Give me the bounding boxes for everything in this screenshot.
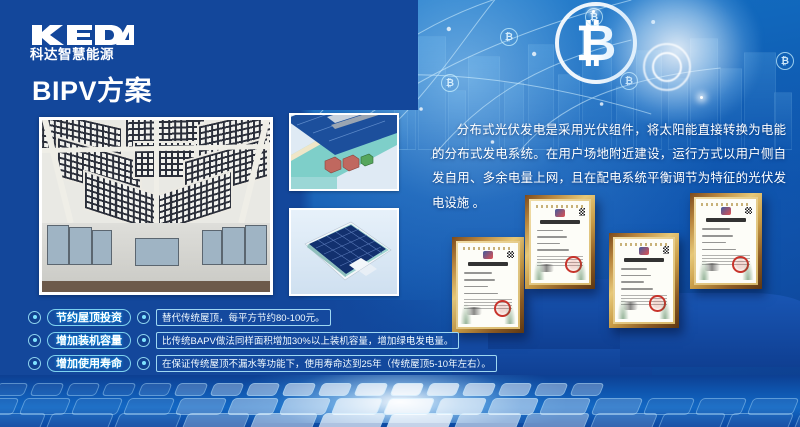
- perspective-tile: [452, 413, 522, 427]
- light-flare: [592, 10, 595, 13]
- feature-label: 增加装机容量: [47, 332, 131, 349]
- bottom-glow-strip: [0, 375, 800, 427]
- perspective-tile: [461, 383, 496, 396]
- feature-detail: 在保证传统屋顶不漏水等功能下，使用寿命达到25年（传统屋顶5-10年左右）。: [156, 355, 497, 372]
- bullet-icon: [28, 334, 41, 347]
- feature-label: 增加使用寿命: [47, 355, 131, 372]
- perspective-tile: [724, 413, 794, 427]
- bullet-icon: [137, 357, 150, 370]
- touch-ring-inner-icon: [652, 52, 682, 82]
- banner-poster: ₿ ₿ ₿ ₿ ₿ ₿: [0, 0, 800, 427]
- render-panel-array[interactable]: [289, 208, 399, 296]
- page-title: BIPV方案: [32, 78, 152, 105]
- list-item: 增加装机容量 比传统BAPV做法同样面积增加30%以上装机容量，增加绿电发电量。: [28, 331, 458, 349]
- perspective-tile: [248, 413, 318, 427]
- description-paragraph: 分布式光伏发电是采用光伏组件，将太阳能直接转换为电能的分布式发电系统。在用户场地…: [432, 118, 786, 215]
- feature-detail: 替代传统屋顶，每平方节约80-100元。: [156, 309, 331, 326]
- perspective-tile: [180, 413, 250, 427]
- perspective-tile: [520, 413, 590, 427]
- perspective-tile: [317, 383, 352, 396]
- perspective-tile: [353, 383, 388, 396]
- perspective-tile: [281, 383, 316, 396]
- brand-logo[interactable]: 科达智慧能源: [30, 24, 134, 62]
- perspective-tile: [173, 383, 208, 396]
- bitcoin-badge-icon: ₿: [776, 52, 794, 70]
- feature-list: 节约屋顶投资 替代传统屋顶，每平方节约80-100元。 增加装机容量 比传统BA…: [28, 308, 458, 377]
- perspective-tile: [112, 413, 182, 427]
- keda-logo-icon: [30, 24, 134, 46]
- keda-wordmark-icon: [30, 24, 134, 46]
- perspective-tile: [389, 383, 424, 396]
- perspective-tile: [29, 383, 64, 396]
- perspective-tile: [425, 383, 460, 396]
- perspective-tile: [588, 413, 658, 427]
- perspective-tile: [533, 383, 568, 396]
- main-photo[interactable]: [39, 117, 273, 295]
- bitcoin-badge-icon: ₿: [500, 28, 518, 46]
- perspective-tile: [316, 413, 386, 427]
- perspective-tile: [65, 383, 100, 396]
- perspective-tile: [384, 413, 454, 427]
- list-item[interactable]: [609, 233, 679, 328]
- perspective-tile: [209, 383, 244, 396]
- atrium-walls-graphic: [42, 223, 270, 292]
- perspective-tile: [245, 383, 280, 396]
- perspective-tile: [497, 383, 532, 396]
- feature-detail: 比传统BAPV做法同样面积增加30%以上装机容量，增加绿电发电量。: [156, 332, 459, 349]
- perspective-tile: [101, 383, 136, 396]
- list-item: 节约屋顶投资 替代传统屋顶，每平方节约80-100元。: [28, 308, 458, 326]
- perspective-tile: [44, 413, 114, 427]
- perspective-tile: [0, 383, 29, 396]
- bullet-icon: [28, 311, 41, 324]
- feature-label: 节约屋顶投资: [47, 309, 131, 326]
- bitcoin-badge-icon: ₿: [441, 74, 459, 92]
- bullet-icon: [137, 334, 150, 347]
- list-item: 增加使用寿命 在保证传统屋顶不漏水等功能下，使用寿命达到25年（传统屋顶5-10…: [28, 354, 458, 372]
- perspective-tile: [569, 383, 604, 396]
- brand-subtitle: 科达智慧能源: [30, 48, 134, 62]
- render-roof-clamp-detail[interactable]: [289, 113, 399, 191]
- bullet-icon: [28, 357, 41, 370]
- bullet-icon: [137, 311, 150, 324]
- perspective-tile: [656, 413, 726, 427]
- light-flare: [700, 96, 703, 99]
- skylight-ceiling-graphic: [42, 120, 270, 227]
- list-item[interactable]: [452, 237, 524, 333]
- perspective-tile: [137, 383, 172, 396]
- perspective-tile: [0, 413, 46, 427]
